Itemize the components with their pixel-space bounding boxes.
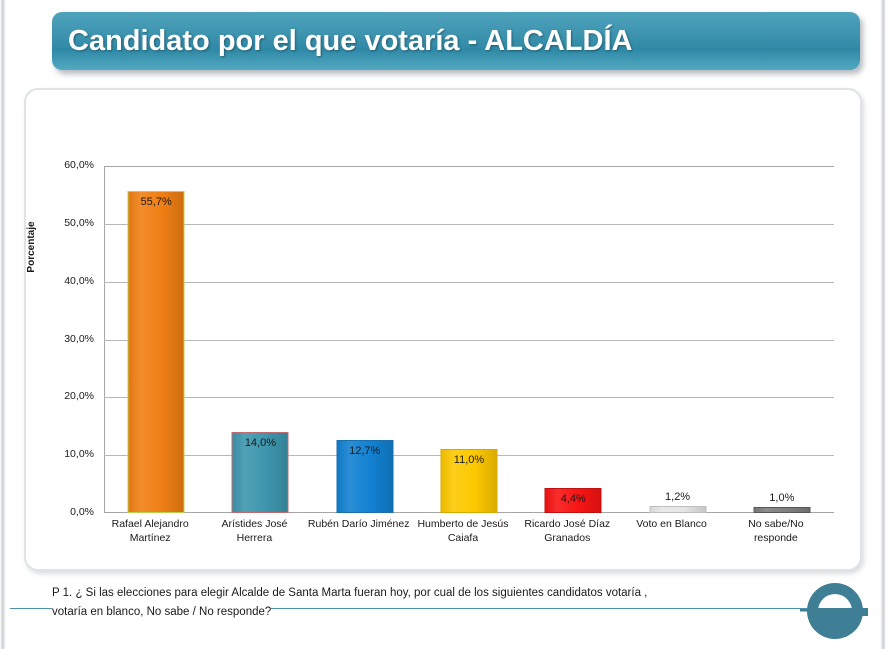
x-axis-category-label: Ricardo José DíazGranados [509,518,625,545]
y-axis-tick-label: 40,0% [28,275,94,287]
y-axis-tick-label: 50,0% [28,217,94,229]
bar-slot: 12,7% [313,166,417,513]
bar-slot: 1,2% [625,166,729,513]
bar[interactable]: 55,7% [128,191,185,513]
x-axis-category-label: Voto en Blanco [614,518,730,532]
x-axis-category-label: Rubén Darío Jiménez [301,518,417,532]
chart-bars: 55,7%14,0%12,7%11,0%4,4%1,2%1,0% [104,166,834,513]
bar-value-label: 11,0% [441,454,496,466]
footnote: P 1. ¿ Si las elecciones para elegir Alc… [52,584,792,622]
y-axis-tick-label: 0,0% [28,506,94,518]
page-edge-left [0,0,6,649]
e-logo [800,578,870,644]
bar-value-label: 1,2% [650,491,705,503]
bar-slot: 1,0% [730,166,834,513]
footnote-line-1: P 1. ¿ Si las elecciones para elegir Alc… [52,584,792,603]
footnote-line-2: votaría en blanco, No sabe / No responde… [52,603,792,622]
slide-title-banner: Candidato por el que votaría - ALCALDÍA [52,12,860,70]
bar[interactable]: 4,4% [545,488,602,513]
y-axis-tick-label: 60,0% [28,159,94,171]
bar-value-label: 14,0% [233,437,288,449]
bar[interactable]: 14,0% [232,432,289,513]
x-axis-category-label: Arístides JoséHerrera [196,518,312,545]
bar-value-label: 55,7% [129,196,184,208]
bar[interactable]: 1,0% [753,507,810,513]
x-axis-category-labels: Rafael AlejandroMartínezArístides JoséHe… [104,518,834,564]
bar-slot: 55,7% [104,166,208,513]
bar-slot: 14,0% [208,166,312,513]
bar[interactable]: 11,0% [440,449,497,513]
bar-value-label: 1,0% [754,492,809,504]
x-axis-category-label: Humberto de JesúsCaiafa [405,518,521,545]
e-logo-icon [800,578,870,644]
bar-slot: 4,4% [521,166,625,513]
page-edge-right [880,0,886,649]
bar[interactable]: 12,7% [336,440,393,513]
bar-value-label: 12,7% [337,445,392,457]
page-title: Candidato por el que votaría - ALCALDÍA [52,25,632,58]
x-axis-category-label: No sabe/Noresponde [718,518,834,545]
y-axis-tick-label: 20,0% [28,390,94,402]
y-axis-tick-label: 10,0% [28,448,94,460]
x-axis-category-label: Rafael AlejandroMartínez [92,518,208,545]
y-axis-tick-label: 30,0% [28,333,94,345]
bar-value-label: 4,4% [546,493,601,505]
bar-slot: 11,0% [417,166,521,513]
bar[interactable]: 1,2% [649,506,706,513]
